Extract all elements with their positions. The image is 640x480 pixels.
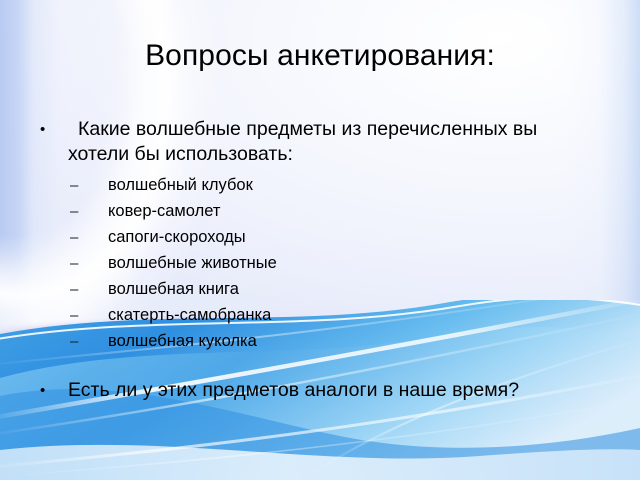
- bullet-item-primary-1: • Какие волшебные предметы из перечислен…: [34, 117, 594, 167]
- dash-icon: –: [70, 277, 108, 303]
- list-item: – ковер-самолет: [70, 198, 277, 224]
- list-item-label: волшебная книга: [108, 276, 239, 302]
- dash-icon: –: [70, 199, 108, 225]
- bullet-text-2: Есть ли у этих предметов аналоги в наше …: [68, 378, 519, 403]
- dash-icon: –: [70, 251, 108, 277]
- list-item: – сапоги-скороходы: [70, 224, 277, 250]
- presentation-slide: Вопросы анкетирования: • Какие волшебные…: [0, 0, 640, 480]
- dash-icon: –: [70, 173, 108, 199]
- list-item-label: сапоги-скороходы: [108, 224, 246, 250]
- bullet-dot-icon: •: [34, 378, 68, 403]
- list-item-label: волшебные животные: [108, 250, 277, 276]
- list-item: – волшебная куколка: [70, 328, 277, 354]
- slide-title: Вопросы анкетирования:: [0, 38, 640, 74]
- dash-icon: –: [70, 329, 108, 355]
- list-item: – волшебный клубок: [70, 172, 277, 198]
- list-item-label: волшебный клубок: [108, 172, 253, 198]
- bullet-item-primary-2: • Есть ли у этих предметов аналоги в наш…: [34, 378, 614, 403]
- list-item: – волшебная книга: [70, 276, 277, 302]
- dash-icon: –: [70, 225, 108, 251]
- dash-icon: –: [70, 303, 108, 329]
- list-item-label: ковер-самолет: [108, 198, 220, 224]
- bullet-text-1: Какие волшебные предметы из перечисленны…: [68, 117, 594, 167]
- list-item-label: волшебная куколка: [108, 328, 257, 354]
- list-item-label: скатерть-самобранка: [108, 302, 271, 328]
- magic-items-sublist: – волшебный клубок – ковер-самолет – сап…: [70, 172, 277, 354]
- bullet-dot-icon: •: [34, 117, 68, 142]
- list-item: – скатерть-самобранка: [70, 302, 277, 328]
- list-item: – волшебные животные: [70, 250, 277, 276]
